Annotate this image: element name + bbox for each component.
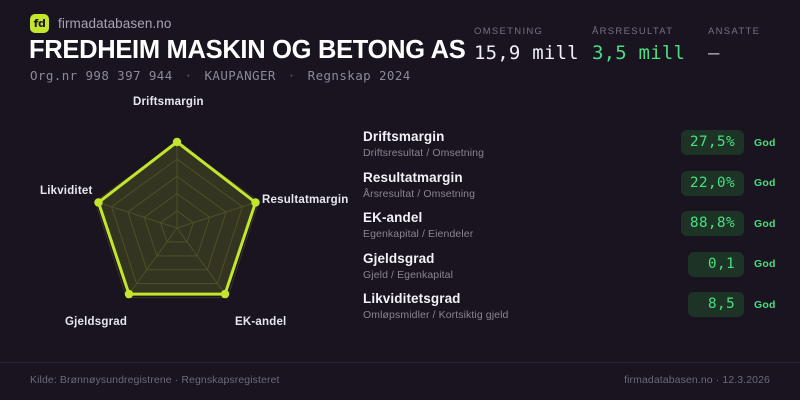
metric-text: Resultatmargin Årsresultat / Omsetning — [363, 169, 681, 202]
metric-value-badge: 27,5% — [681, 130, 744, 155]
metric-text: Driftsmargin Driftsresultat / Omsetning — [363, 128, 681, 161]
metric-verdict: God — [754, 218, 788, 230]
metric-text: Likviditetsgrad Omløpsmidler / Kortsikti… — [363, 290, 688, 323]
company-place: KAUPANGER — [204, 68, 275, 83]
radar-chart: Driftsmargin Resultatmargin EK-andel Gje… — [0, 88, 355, 338]
metric-list: Driftsmargin Driftsresultat / Omsetning … — [363, 128, 788, 331]
radar-point-ek-andel — [221, 290, 229, 298]
metric-verdict: God — [754, 258, 788, 270]
kpi-omsetning: OMSETNING 15,9 mill — [474, 26, 592, 64]
brand: fd firmadatabasen.no — [30, 14, 172, 33]
metric-formula: Egenkapital / Eiendeler — [363, 227, 681, 242]
meta-separator-2: · — [284, 68, 300, 83]
kpi-strip: OMSETNING 15,9 mill ÅRSRESULTAT 3,5 mill… — [474, 26, 782, 64]
kpi-omsetning-value: 15,9 mill — [474, 42, 592, 64]
radar-point-driftsmargin — [173, 138, 181, 146]
metric-verdict: God — [754, 137, 788, 149]
radar-axis-label-resultatmargin: Resultatmargin — [262, 194, 349, 206]
metric-formula: Årsresultat / Omsetning — [363, 187, 681, 202]
kpi-ansatte: ANSATTE – — [708, 26, 782, 64]
metric-formula: Omløpsmidler / Kortsiktig gjeld — [363, 308, 688, 323]
radar-point-likviditet — [94, 198, 102, 206]
footer-attribution: firmadatabasen.no · 12.3.2026 — [624, 374, 770, 386]
metric-row-driftsmargin: Driftsmargin Driftsresultat / Omsetning … — [363, 128, 788, 169]
metric-formula: Gjeld / Egenkapital — [363, 268, 688, 283]
page-title: FREDHEIM MASKIN OG BETONG AS — [29, 36, 465, 65]
radar-axis-label-gjeldsgrad: Gjeldsgrad — [65, 316, 127, 328]
metric-right: 27,5% God — [681, 128, 788, 155]
metric-verdict: God — [754, 177, 788, 189]
metric-text: EK-andel Egenkapital / Eiendeler — [363, 209, 681, 242]
metric-right: 22,0% God — [681, 169, 788, 196]
metric-row-resultatmargin: Resultatmargin Årsresultat / Omsetning 2… — [363, 169, 788, 210]
site-name: firmadatabasen.no — [58, 16, 172, 31]
metric-row-likviditetsgrad: Likviditetsgrad Omløpsmidler / Kortsikti… — [363, 290, 788, 331]
metric-row-ek-andel: EK-andel Egenkapital / Eiendeler 88,8% G… — [363, 209, 788, 250]
radar-point-gjeldsgrad — [125, 290, 133, 298]
company-meta: Org.nr 998 397 944 · KAUPANGER · Regnska… — [30, 68, 411, 83]
metric-name: Likviditetsgrad — [363, 291, 688, 307]
radar-axis-label-ek-andel: EK-andel — [235, 316, 286, 328]
metric-value-badge: 88,8% — [681, 211, 744, 236]
metric-text: Gjeldsgrad Gjeld / Egenkapital — [363, 250, 688, 283]
metric-formula: Driftsresultat / Omsetning — [363, 146, 681, 161]
radar-chart-svg — [0, 88, 355, 338]
radar-point-resultatmargin — [251, 198, 259, 206]
kpi-ansatte-label: ANSATTE — [708, 26, 782, 37]
accounting-year: Regnskap 2024 — [308, 68, 411, 83]
radar-axis-label-driftsmargin: Driftsmargin — [133, 96, 204, 108]
metric-name: Resultatmargin — [363, 170, 681, 186]
metric-row-gjeldsgrad: Gjeldsgrad Gjeld / Egenkapital 0,1 God — [363, 250, 788, 291]
metric-right: 0,1 God — [688, 250, 788, 277]
infographic-card: fd firmadatabasen.no FREDHEIM MASKIN OG … — [0, 0, 800, 400]
radar-axis-label-likviditet: Likviditet — [40, 185, 92, 197]
metric-name: EK-andel — [363, 210, 681, 226]
meta-separator-1: · — [181, 68, 197, 83]
orgnr-text: Org.nr 998 397 944 — [30, 68, 173, 83]
metric-right: 8,5 God — [688, 290, 788, 317]
kpi-ansatte-value: – — [708, 42, 782, 64]
metric-value-badge: 8,5 — [688, 292, 744, 317]
kpi-arsresultat: ÅRSRESULTAT 3,5 mill — [592, 26, 708, 64]
firmadatabasen-logo-icon: fd — [30, 14, 49, 33]
kpi-omsetning-label: OMSETNING — [474, 26, 592, 37]
footer-divider — [0, 362, 800, 363]
kpi-arsresultat-value: 3,5 mill — [592, 42, 708, 64]
kpi-arsresultat-label: ÅRSRESULTAT — [592, 26, 708, 37]
metric-value-badge: 22,0% — [681, 171, 744, 196]
footer-source: Kilde: Brønnøysundregistrene · Regnskaps… — [30, 374, 280, 386]
metric-verdict: God — [754, 299, 788, 311]
metric-right: 88,8% God — [681, 209, 788, 236]
metric-name: Gjeldsgrad — [363, 251, 688, 267]
metric-name: Driftsmargin — [363, 129, 681, 145]
metric-value-badge: 0,1 — [688, 252, 744, 277]
